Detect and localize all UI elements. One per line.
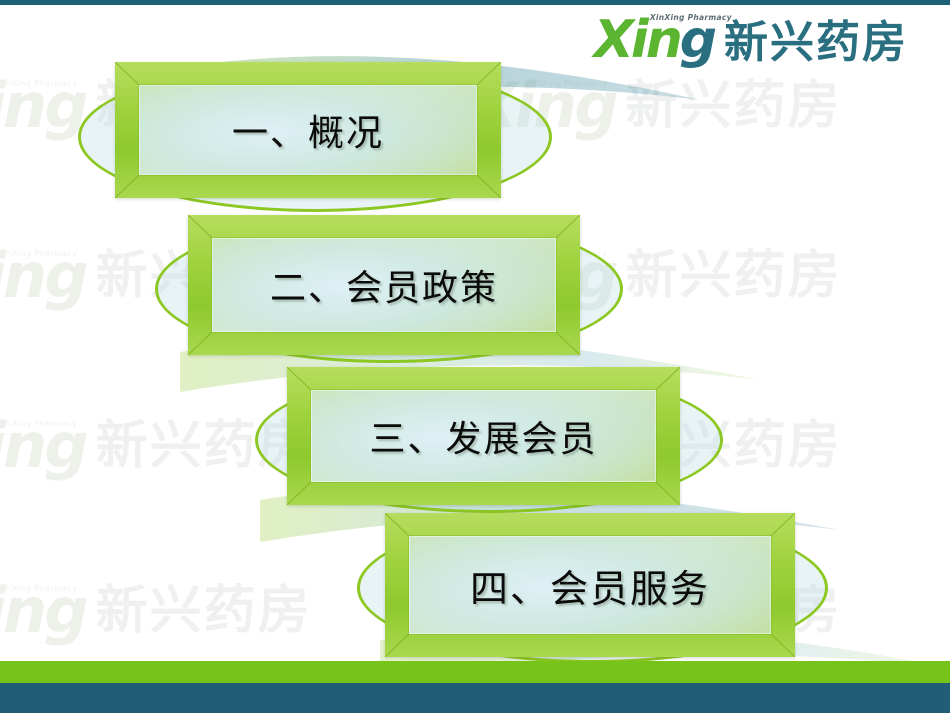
agenda-label-4: 四、会员服务 [470,558,710,613]
watermark-chinese: 新兴药房 [626,80,842,132]
agenda-panel-4: 四、会员服务 [409,536,771,634]
agenda-label-3: 三、发展会员 [369,410,597,462]
agenda-label-2: 二、会员政策 [270,259,498,311]
agenda-panel-1: 一、概况 [139,85,477,175]
agenda-label-1: 一、概况 [232,104,384,156]
bottom-teal-band [0,683,950,713]
brand-logo: XingXinXing Pharmacy 新兴药房 [594,16,908,65]
logo-chinese-name: 新兴药房 [724,21,908,65]
logo-tagline: XinXing Pharmacy [650,14,732,21]
watermark-tagline: XinXing Pharmacy [0,79,77,88]
logo-wordmark-xin: XingXinXing Pharmacy [594,16,714,65]
watermark-tagline: XinXing Pharmacy [528,79,607,88]
agenda-panel-2: 二、会员政策 [212,238,556,332]
watermark-tagline: XinXing Pharmacy [0,419,77,428]
top-accent-band [0,0,950,5]
watermark-tagline: XinXing Pharmacy [0,584,77,593]
agenda-panel-3: 三、发展会员 [311,390,656,482]
watermark-tagline: XinXing Pharmacy [0,249,77,258]
bottom-green-band [0,661,950,683]
watermark-chinese: 新兴药房 [96,585,312,637]
slide-canvas: Xing XinXing Pharmacy 新兴药房 Xing XinXing … [0,0,950,713]
watermark-logo: Xing XinXing Pharmacy 新兴药房 [0,580,312,642]
watermark-chinese: 新兴药房 [626,250,842,302]
